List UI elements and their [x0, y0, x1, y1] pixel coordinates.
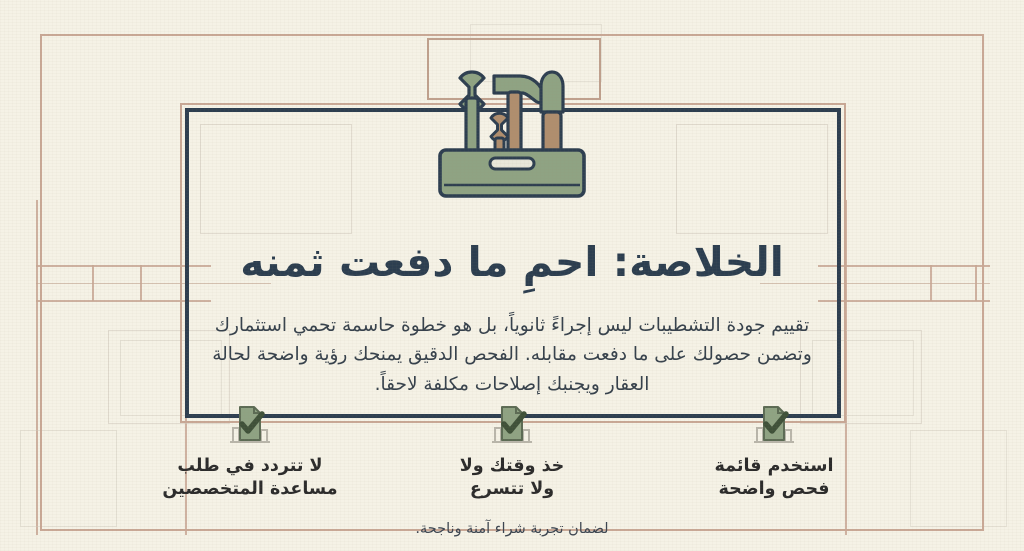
toolbox-icon [432, 54, 592, 200]
key-point-item-2: خذ وقتك ولا ولا تتسرع [412, 404, 612, 501]
key-point-label: استخدم قائمة فحص واضحة [674, 455, 874, 501]
toolbox-illustration [427, 46, 597, 196]
checklist-document-icon [752, 404, 796, 446]
footer-caption: لضمان تجربة شراء آمنة وناجحة. [0, 521, 1024, 537]
infographic-canvas: الخلاصة: احمِ ما دفعت ثمنه تقييم جودة ال… [0, 0, 1024, 551]
key-point-label: خذ وقتك ولا ولا تتسرع [412, 455, 612, 501]
screwdriver-icon [541, 72, 563, 154]
checklist-document-icon [228, 404, 272, 446]
toolbox-body [440, 150, 584, 196]
key-point-label: لا تتردد في طلب مساعدة المتخصصين [150, 455, 350, 501]
body-paragraph: تقييم جودة التشطيبات ليس إجراءً ثانوياً،… [212, 311, 812, 401]
key-point-item-1: استخدم قائمة فحص واضحة [674, 404, 874, 501]
key-points-list: استخدم قائمة فحص واضحة خذ وقتك ولا ولا ت… [150, 404, 874, 501]
wrench-icon [460, 72, 484, 154]
key-point-item-3: لا تتردد في طلب مساعدة المتخصصين [150, 404, 350, 501]
page-title: الخلاصة: احمِ ما دفعت ثمنه [0, 239, 1024, 286]
checklist-document-icon [490, 404, 534, 446]
